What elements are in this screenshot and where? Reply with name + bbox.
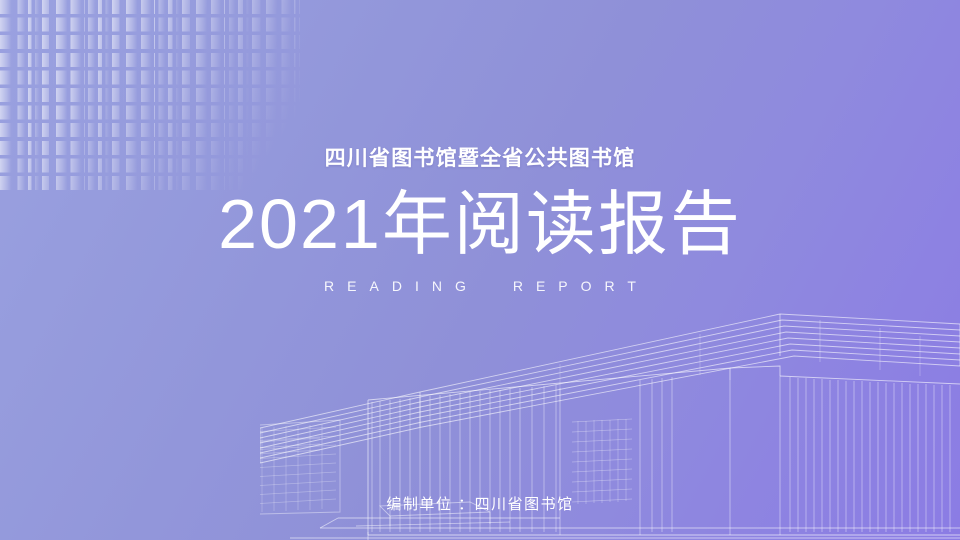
slide-subtitle: 四川省图书馆暨全省公共图书馆 <box>0 148 960 169</box>
roof-fascia <box>260 314 960 463</box>
slide-english-title: READINGREPORT <box>0 279 960 293</box>
english-title-reading: READING <box>324 278 479 294</box>
english-title-report: REPORT <box>513 278 649 294</box>
title-slide: 四川省图书馆暨全省公共图书馆 2021年阅读报告 READINGREPORT 编… <box>0 0 960 540</box>
back-roof-lines <box>260 438 320 460</box>
title-block: 四川省图书馆暨全省公共图书馆 2021年阅读报告 READINGREPORT <box>0 148 960 293</box>
roof-lines <box>260 314 960 463</box>
footer-credit: 编制单位 ：四川省图书馆 <box>0 493 960 514</box>
facade-window-grid <box>572 419 632 504</box>
slide-main-title: 2021年阅读报告 <box>0 187 960 263</box>
building-base <box>290 518 960 540</box>
